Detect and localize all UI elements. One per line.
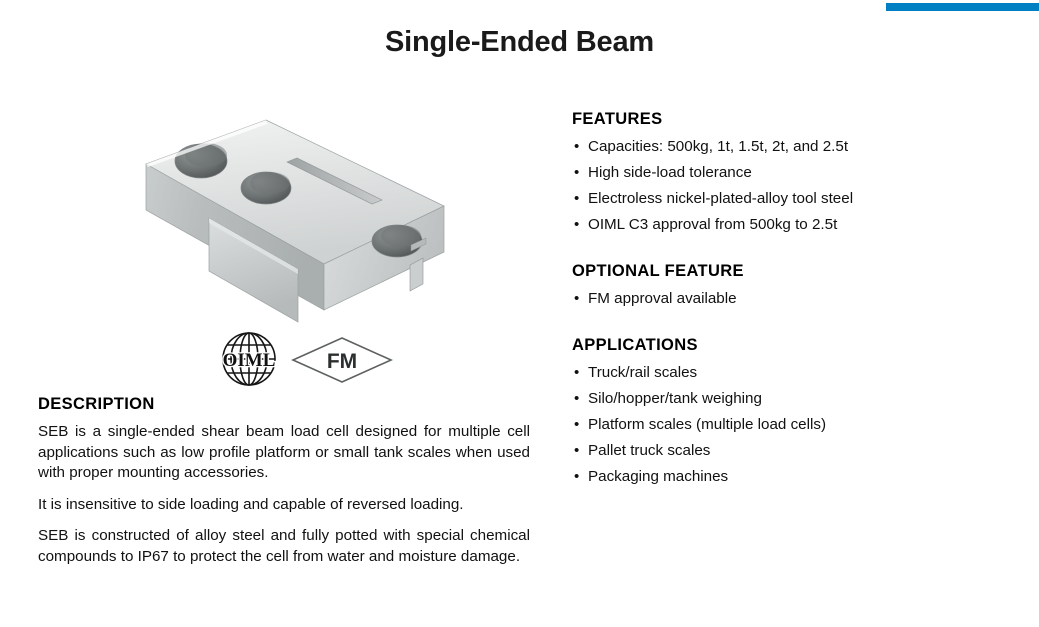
description-paragraph: It is insensitive to side loading and ca… xyxy=(38,495,530,516)
list-item: Capacities: 500kg, 1t, 1.5t, 2t, and 2.5… xyxy=(572,134,1012,160)
description-paragraph: SEB is a single-ended shear beam load ce… xyxy=(38,422,530,484)
list-item: Platform scales (multiple load cells) xyxy=(572,412,1012,438)
list-item: OIML C3 approval from 500kg to 2.5t xyxy=(572,212,1012,238)
product-figure: OIML FM xyxy=(38,100,530,330)
list-item: Truck/rail scales xyxy=(572,360,1012,386)
features-section: FEATURES Capacities: 500kg, 1t, 1.5t, 2t… xyxy=(572,110,1012,238)
list-item: Pallet truck scales xyxy=(572,438,1012,464)
optional-feature-section: OPTIONAL FEATURE FM approval available xyxy=(572,262,1012,312)
description-heading: DESCRIPTION xyxy=(38,395,530,414)
certification-marks: OIML FM xyxy=(38,328,530,390)
oiml-logo-icon: OIML xyxy=(218,330,280,388)
applications-list: Truck/rail scales Silo/hopper/tank weigh… xyxy=(572,360,1012,490)
top-accent-bar xyxy=(886,3,1039,11)
page-title: Single-Ended Beam xyxy=(0,26,1039,59)
description-paragraph: SEB is constructed of alloy steel and fu… xyxy=(38,526,530,567)
left-column: OIML FM xyxy=(38,100,530,330)
features-list: Capacities: 500kg, 1t, 1.5t, 2t, and 2.5… xyxy=(572,134,1012,238)
load-cell-illustration xyxy=(114,114,454,329)
fm-logo-icon: FM xyxy=(291,336,393,384)
oiml-logo-label: OIML xyxy=(223,350,276,371)
applications-section: APPLICATIONS Truck/rail scales Silo/hopp… xyxy=(572,336,1012,490)
applications-heading: APPLICATIONS xyxy=(572,336,1012,355)
features-heading: FEATURES xyxy=(572,110,1012,129)
list-item: Electroless nickel-plated-alloy tool ste… xyxy=(572,186,1012,212)
description-section: DESCRIPTION SEB is a single-ended shear … xyxy=(38,395,530,567)
list-item: Silo/hopper/tank weighing xyxy=(572,386,1012,412)
optional-feature-list: FM approval available xyxy=(572,286,1012,312)
optional-feature-heading: OPTIONAL FEATURE xyxy=(572,262,1012,281)
list-item: FM approval available xyxy=(572,286,1012,312)
list-item: High side-load tolerance xyxy=(572,160,1012,186)
fm-logo-label: FM xyxy=(327,350,357,373)
right-column: FEATURES Capacities: 500kg, 1t, 1.5t, 2t… xyxy=(572,110,1012,490)
list-item: Packaging machines xyxy=(572,464,1012,490)
